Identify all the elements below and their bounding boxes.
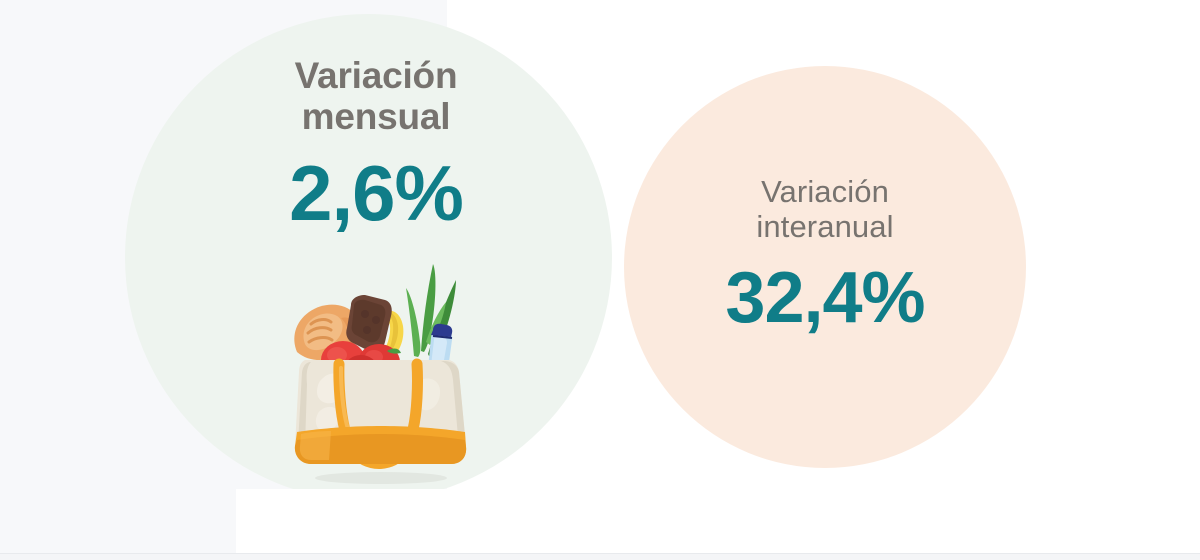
bag-bottom-band <box>295 426 466 464</box>
variacion-interanual-heading: Variación interanual <box>680 175 970 244</box>
bottom-divider <box>0 553 1200 560</box>
variacion-interanual-heading-line2: interanual <box>756 209 893 244</box>
variacion-mensual-value: 2,6% <box>235 154 517 232</box>
variacion-interanual-value: 32,4% <box>680 262 970 334</box>
variacion-interanual-heading-line1: Variación <box>761 174 889 209</box>
variacion-interanual-text-block: Variación interanual 32,4% <box>680 175 970 334</box>
background-white-panel <box>236 489 1200 553</box>
variacion-mensual-heading-line2: mensual <box>302 96 451 137</box>
variacion-mensual-heading: Variación mensual <box>235 55 517 138</box>
grocery-bag-illustration <box>281 250 481 492</box>
chocolate-bar-icon <box>346 295 392 351</box>
variacion-mensual-heading-line1: Variación <box>295 55 458 96</box>
infographic-canvas: Variación mensual 2,6% Variación interan… <box>0 0 1200 560</box>
variacion-mensual-text-block: Variación mensual 2,6% <box>235 55 517 232</box>
bag-shadow <box>315 472 447 484</box>
